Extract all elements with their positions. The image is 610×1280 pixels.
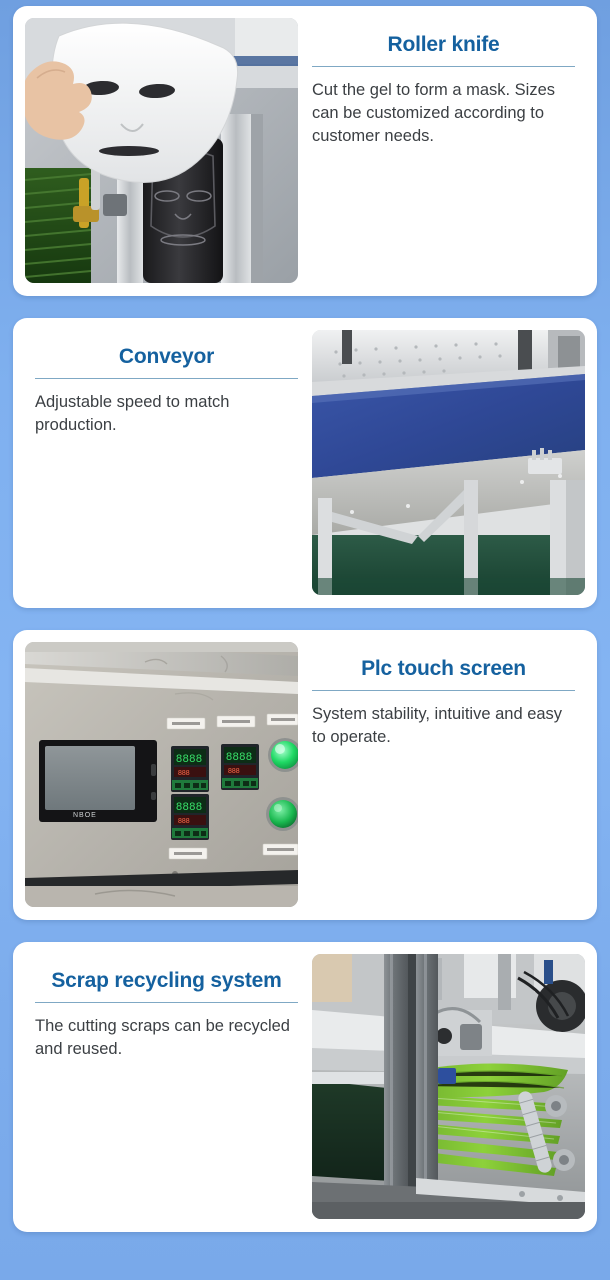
- roller-knife-photo: [25, 18, 298, 283]
- title-underline: [35, 1002, 298, 1003]
- title-underline: [312, 66, 575, 67]
- feature-card-scrap-recycling-system: Scrap recycling system The cutting scrap…: [13, 942, 597, 1232]
- conveyor-photo: [312, 330, 585, 595]
- card-title: Conveyor: [35, 344, 298, 370]
- svg-text:8888: 8888: [176, 753, 202, 765]
- card-description: The cutting scraps can be recycled and r…: [35, 1015, 298, 1061]
- svg-text:888: 888: [178, 770, 190, 777]
- title-underline: [35, 378, 298, 379]
- svg-text:888: 888: [228, 768, 240, 775]
- card-title: Scrap recycling system: [35, 968, 298, 994]
- svg-text:8888: 8888: [226, 751, 252, 763]
- scrap-recycling-photo: [312, 954, 585, 1219]
- feature-card-plc-touch-screen: NBOE 8888 888 8888 888: [13, 630, 597, 920]
- card-description: Cut the gel to form a mask. Sizes can be…: [312, 79, 575, 147]
- feature-card-roller-knife: Roller knife Cut the gel to form a mask.…: [13, 6, 597, 296]
- scrap-recycling-text-block: Scrap recycling system The cutting scrap…: [25, 954, 312, 1061]
- feature-card-conveyor: Conveyor Adjustable speed to match produ…: [13, 318, 597, 608]
- plc-touch-screen-text-block: Plc touch screen System stability, intui…: [298, 642, 585, 749]
- card-description: System stability, intuitive and easy to …: [312, 703, 575, 749]
- features-page: Roller knife Cut the gel to form a mask.…: [0, 0, 610, 1280]
- card-description: Adjustable speed to match production.: [35, 391, 298, 437]
- conveyor-text-block: Conveyor Adjustable speed to match produ…: [25, 330, 312, 437]
- roller-knife-text-block: Roller knife Cut the gel to form a mask.…: [298, 18, 585, 148]
- svg-text:8888: 8888: [176, 801, 202, 813]
- card-title: Plc touch screen: [312, 656, 575, 682]
- plc-touch-screen-photo: NBOE 8888 888 8888 888: [25, 642, 298, 907]
- svg-text:888: 888: [178, 818, 190, 825]
- title-underline: [312, 690, 575, 691]
- svg-text:NBOE: NBOE: [73, 812, 97, 819]
- card-title: Roller knife: [312, 32, 575, 58]
